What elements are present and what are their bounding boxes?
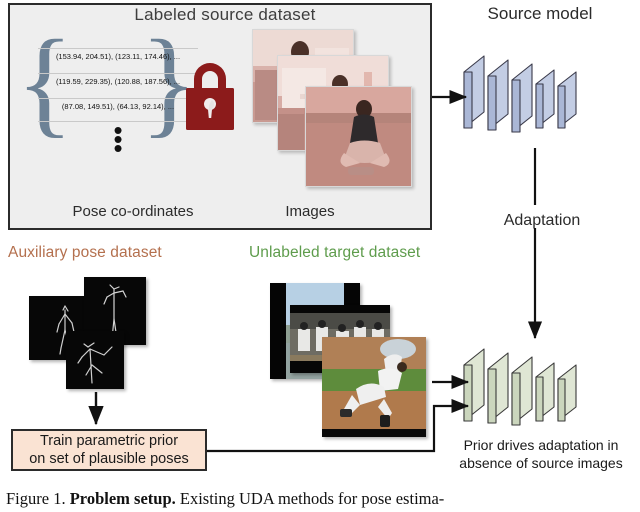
figure-caption-bold: Problem setup. <box>70 489 176 508</box>
adapted-model-network-icon <box>460 345 590 437</box>
pose-coordinate-row: (119.59, 229.35), (120.88, 187.56), ... <box>38 73 198 86</box>
padlock-icon <box>180 55 240 133</box>
pose-skeleton-thumbnail <box>66 331 124 389</box>
figure-caption: Figure 1. Problem setup. Existing UDA me… <box>6 489 640 509</box>
pose-coordinate-row: (87.08, 149.51), (64.13, 92.14), ... <box>38 98 198 111</box>
target-caption-line-1: Prior drives adaptation in <box>443 437 639 455</box>
unlabeled-target-dataset-title: Unlabeled target dataset <box>249 244 474 262</box>
images-label: Images <box>255 203 365 220</box>
adaptation-label: Adaptation <box>472 212 612 230</box>
source-model-title: Source model <box>455 4 625 24</box>
figure-caption-rest: Existing UDA methods for pose estima- <box>180 489 444 508</box>
prior-box-line-1: Train parametric prior <box>40 432 178 450</box>
train-prior-box: Train parametric prior on set of plausib… <box>11 429 207 471</box>
target-caption-line-2: absence of source images <box>443 455 639 473</box>
pose-coordinate-row: (153.94, 204.51), (123.11, 174.46), ... <box>38 48 198 61</box>
vertical-ellipsis-icon: ••• <box>110 126 126 153</box>
source-image-thumbnail <box>305 86 412 187</box>
source-model-network-icon <box>460 52 590 144</box>
prior-box-line-2: on set of plausible poses <box>29 450 189 468</box>
labeled-source-dataset-title: Labeled source dataset <box>95 5 355 25</box>
prior-drives-adaptation-caption: Prior drives adaptation in absence of so… <box>443 437 639 472</box>
auxiliary-pose-dataset-title: Auxiliary pose dataset <box>8 244 213 262</box>
pose-coordinates-label: Pose co-ordinates <box>48 203 218 220</box>
figure-caption-prefix: Figure 1. <box>6 489 66 508</box>
target-image-thumbnail <box>322 337 426 437</box>
